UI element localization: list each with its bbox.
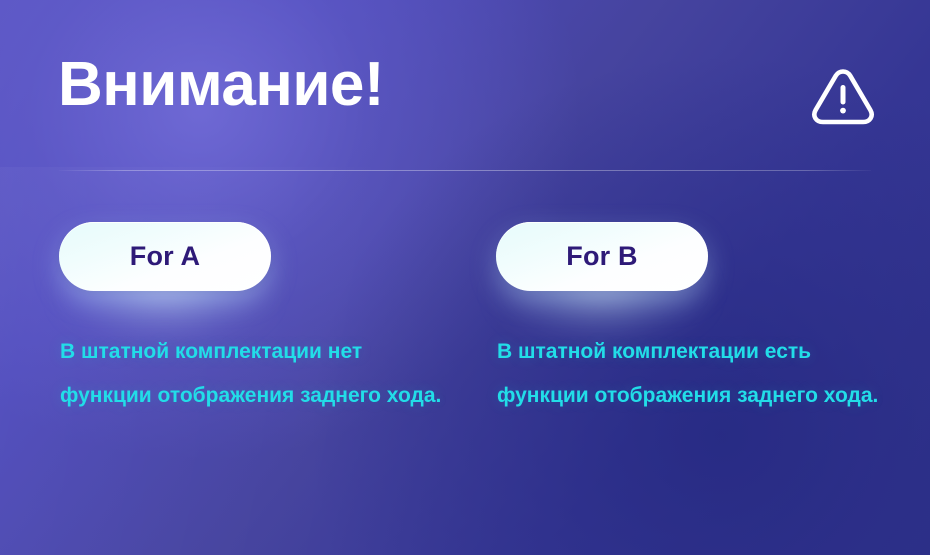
- warning-triangle-icon: [811, 64, 875, 128]
- for-b-button[interactable]: For B: [496, 222, 708, 291]
- pill-wrapper-a: For A: [59, 222, 271, 291]
- attention-slide: Внимание! For A В штатной комплектации н…: [0, 0, 930, 555]
- for-b-description: В штатной комплектации есть функции отоб…: [497, 330, 879, 418]
- header-divider: [59, 170, 871, 171]
- for-a-description: В штатной комплектации нет функции отобр…: [60, 330, 442, 418]
- column-for-b: For B В штатной комплектации есть функци…: [496, 222, 896, 291]
- page-title: Внимание!: [58, 52, 384, 117]
- pill-wrapper-b: For B: [496, 222, 708, 291]
- slide-content: Внимание! For A В штатной комплектации н…: [0, 0, 930, 555]
- for-a-button[interactable]: For A: [59, 222, 271, 291]
- column-for-a: For A В штатной комплектации нет функции…: [59, 222, 459, 291]
